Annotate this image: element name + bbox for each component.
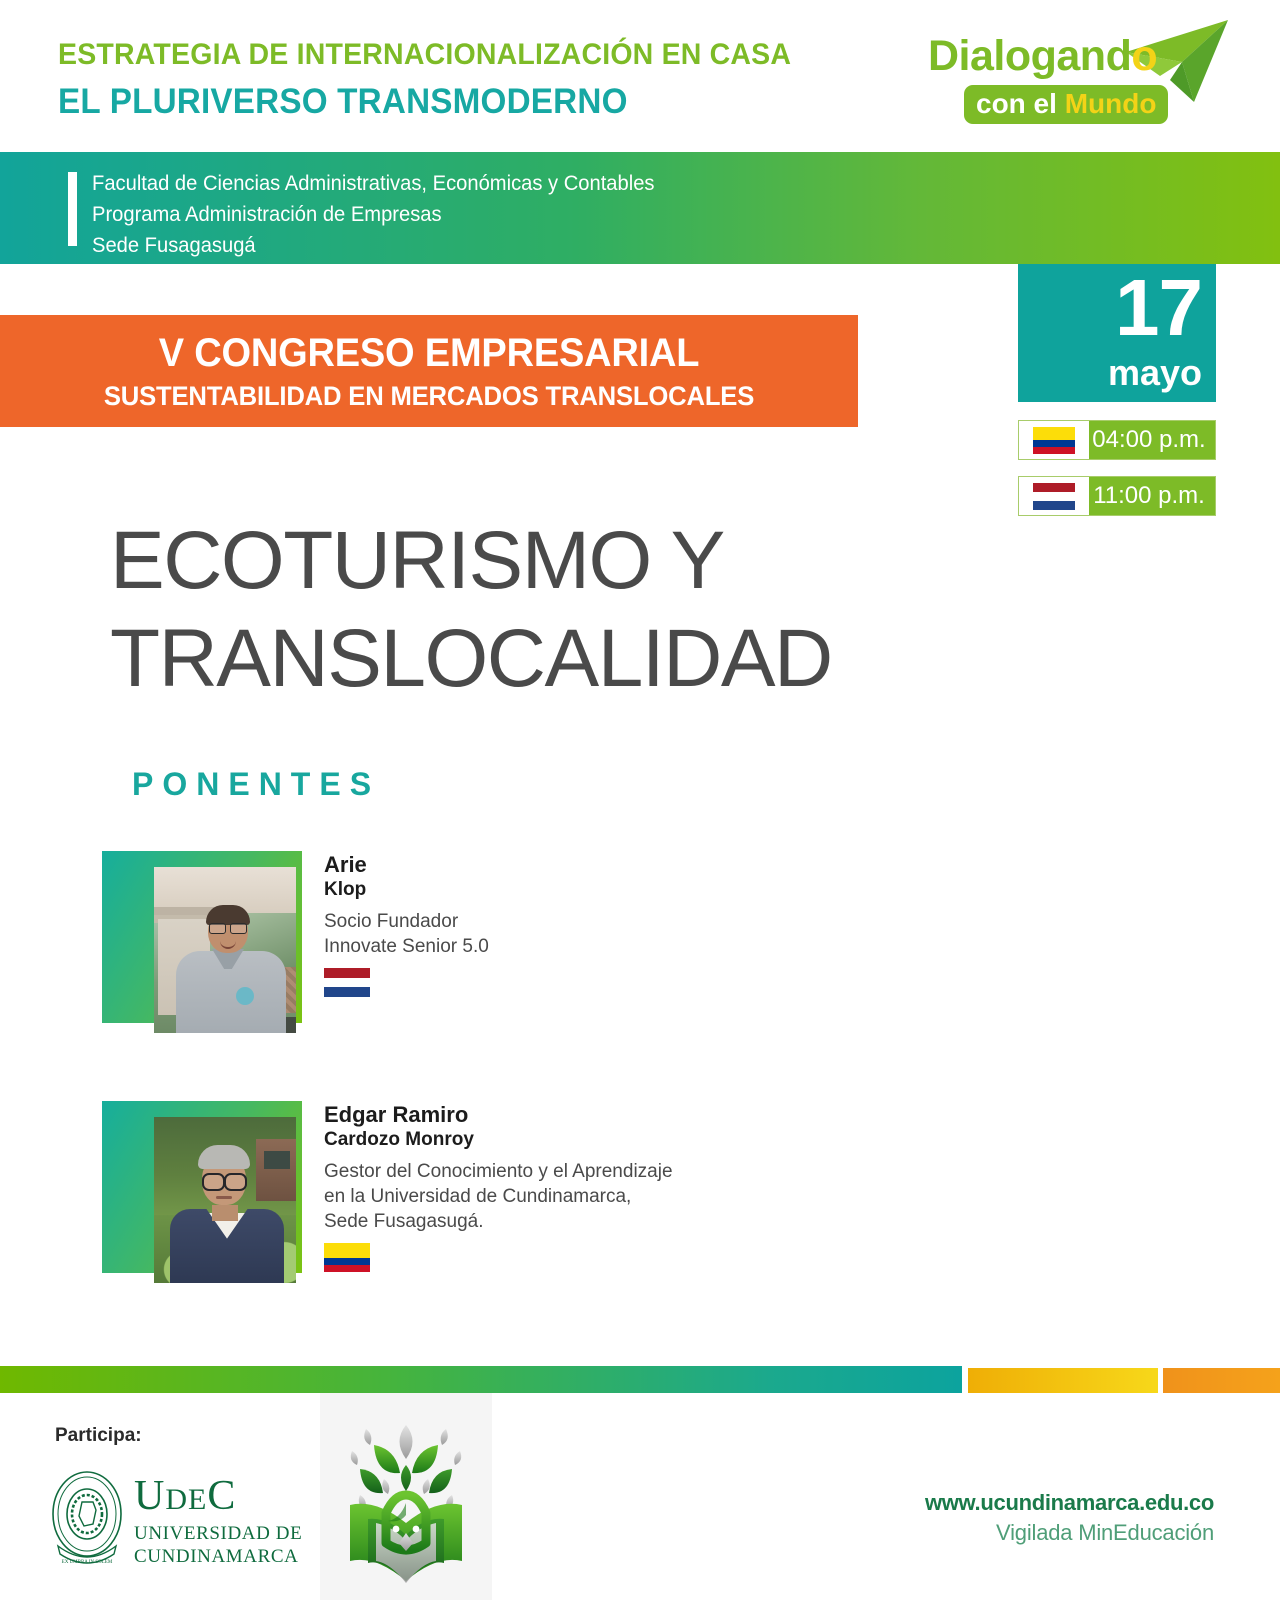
speaker-2-info: Edgar Ramiro Cardozo Monroy Gestor del C… (324, 1101, 744, 1272)
faculty-band: Facultad de Ciencias Administrativas, Ec… (0, 152, 1280, 264)
footer-bar-yellow (968, 1368, 1158, 1393)
strategy-line-2: EL PLURIVERSO TRANSMODERNO (58, 82, 628, 122)
netherlands-flag-icon (1033, 483, 1075, 510)
date-month: mayo (1018, 352, 1202, 394)
main-title-line-1: ECOTURISMO Y (110, 512, 1010, 610)
dialogando-logo: Dialogando con el Mundo (928, 22, 1228, 132)
owl-book-plant-logo (338, 1407, 474, 1585)
faculty-accent-bar (68, 172, 77, 246)
con-el-mundo-pill: con el Mundo (964, 85, 1168, 124)
speaker-2-role: Gestor del Conocimiento y el Aprendizaje… (324, 1159, 744, 1234)
svg-text:EX UMBRA IN SOLEM: EX UMBRA IN SOLEM (62, 1560, 113, 1565)
congress-title: V CONGRESO EMPRESARIAL (21, 331, 836, 376)
colombia-flag-icon (324, 1243, 370, 1272)
udec-seal-icon: EX UMBRA IN SOLEM (48, 1468, 126, 1568)
top-header: ESTRATEGIA DE INTERNACIONALIZACIÓN EN CA… (0, 0, 1280, 152)
center-logo-container (320, 1393, 492, 1600)
speaker-2-photo-frame (102, 1101, 302, 1273)
website-url[interactable]: www.ucundinamarca.edu.co (925, 1490, 1214, 1516)
footer-bar-green (0, 1366, 962, 1393)
colombia-flag-cell (1019, 421, 1089, 459)
speaker-1-role-line-1: Socio Fundador (324, 909, 744, 934)
faculty-text-block: Facultad de Ciencias Administrativas, Ec… (92, 168, 655, 261)
strategy-line-1: ESTRATEGIA DE INTERNACIONALIZACIÓN EN CA… (58, 38, 791, 72)
netherlands-flag-cell (1019, 477, 1089, 515)
speaker-2-photo (154, 1117, 296, 1283)
speaker-1-photo-frame (102, 851, 302, 1023)
time-label-colombia: 04:00 p.m. (1089, 426, 1215, 454)
dialogando-wordmark: Dialogando (928, 32, 1157, 81)
date-box: 17 mayo (1018, 264, 1216, 402)
speaker-1-role-line-2: Innovate Senior 5.0 (324, 934, 744, 959)
speakers-heading: PONENTES (132, 766, 380, 803)
time-row-colombia: 04:00 p.m. (1018, 420, 1216, 460)
dialogando-o-accent: o (1131, 32, 1157, 80)
speaker-1-first-name: Arie (324, 851, 744, 878)
mundo-text: Mundo (1065, 88, 1157, 119)
supervision-label: Vigilada MinEducación (996, 1520, 1214, 1546)
speaker-2-first-name: Edgar Ramiro (324, 1101, 744, 1128)
udec-full-name-line-1: UNIVERSIDAD DE (134, 1522, 302, 1545)
footer-bar-orange (1163, 1368, 1280, 1393)
udec-wordmark: UDEC UNIVERSIDAD DE CUNDINAMARCA (134, 1474, 302, 1568)
udec-letter-u: U (134, 1473, 165, 1519)
speaker-1-photo (154, 867, 296, 1033)
udec-full-name-line-2: CUNDINAMARCA (134, 1545, 302, 1568)
udec-acronym: UDEC (134, 1474, 302, 1522)
speaker-2-role-line-2: en la Universidad de Cundinamarca, (324, 1184, 744, 1209)
faculty-line-3: Sede Fusagasugá (92, 230, 655, 261)
faculty-line-2: Programa Administración de Empresas (92, 199, 655, 230)
udec-letter-c: C (207, 1473, 236, 1519)
speaker-2-role-line-1: Gestor del Conocimiento y el Aprendizaje (324, 1159, 744, 1184)
congress-subtitle: SUSTENTABILIDAD EN MERCADOS TRANSLOCALES (21, 381, 836, 412)
speaker-1-info: Arie Klop Socio Fundador Innovate Senior… (324, 851, 744, 997)
date-day: 17 (1018, 262, 1202, 354)
netherlands-flag-icon (324, 968, 370, 997)
dialogando-text: Dialogand (928, 32, 1131, 80)
congress-banner: V CONGRESO EMPRESARIAL SUSTENTABILIDAD E… (0, 315, 858, 427)
participa-label: Participa: (55, 1425, 142, 1447)
page-title: ECOTURISMO Y TRANSLOCALIDAD (110, 512, 1010, 708)
speaker-1-role: Socio Fundador Innovate Senior 5.0 (324, 909, 744, 959)
speaker-2-role-line-3: Sede Fusagasugá. (324, 1209, 744, 1234)
time-row-netherlands: 11:00 p.m. (1018, 476, 1216, 516)
speaker-2-last-name: Cardozo Monroy (324, 1128, 744, 1152)
speaker-1-last-name: Klop (324, 878, 744, 902)
time-label-netherlands: 11:00 p.m. (1089, 482, 1215, 510)
udec-logo: EX UMBRA IN SOLEM UDEC UNIVERSIDAD DE CU… (48, 1468, 328, 1573)
udec-letters-de: DE (165, 1483, 207, 1516)
colombia-flag-icon (1033, 427, 1075, 454)
main-title-line-2: TRANSLOCALIDAD (110, 610, 1010, 708)
faculty-line-1: Facultad de Ciencias Administrativas, Ec… (92, 168, 655, 199)
con-el-text: con el (976, 88, 1065, 119)
